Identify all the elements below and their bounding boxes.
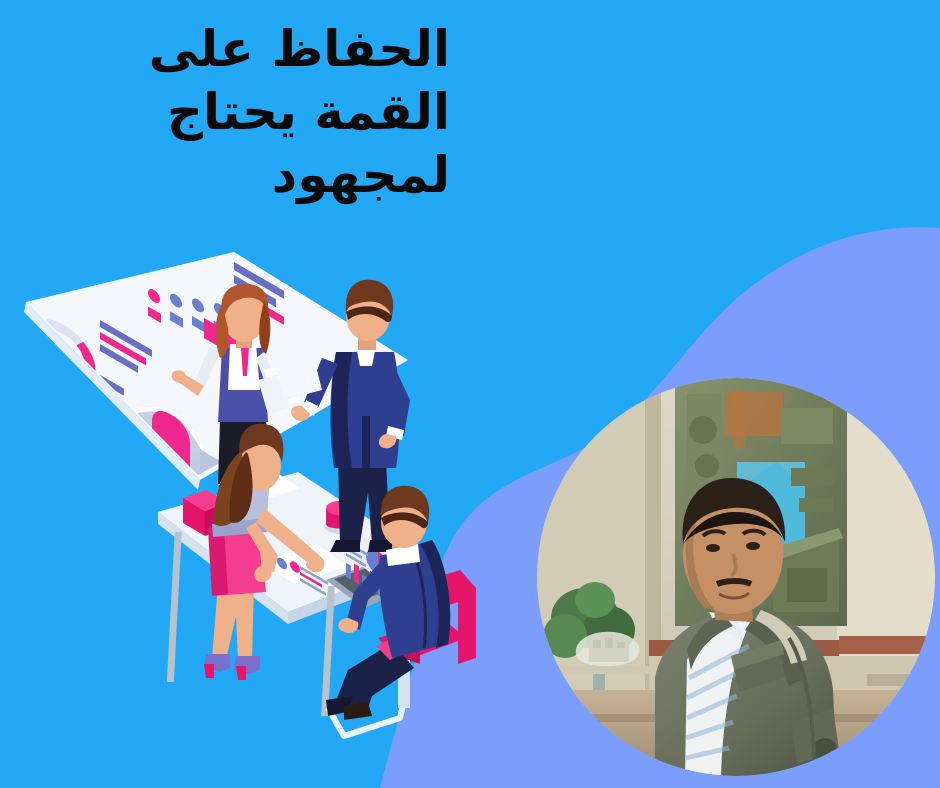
standing-man-jacket-split	[362, 416, 370, 468]
photo-subject-eye-left	[706, 544, 720, 552]
photo-subject-eye-right	[746, 542, 760, 550]
business-team-illustration	[8, 240, 508, 770]
profile-photo	[537, 378, 935, 776]
leaning-woman-heel-1	[204, 664, 214, 678]
page-title: الحفاظ على القمة يحتاج لمجهود	[30, 18, 450, 207]
photo-subject-moustache	[717, 581, 751, 584]
desk-leg-left	[167, 532, 182, 682]
profile-photo-image	[537, 378, 935, 776]
social-card: الحفاظ على القمة يحتاج لمجهود	[0, 0, 940, 788]
leaning-woman-heel-2	[236, 666, 246, 680]
board-text-lines-left	[42, 392, 100, 504]
